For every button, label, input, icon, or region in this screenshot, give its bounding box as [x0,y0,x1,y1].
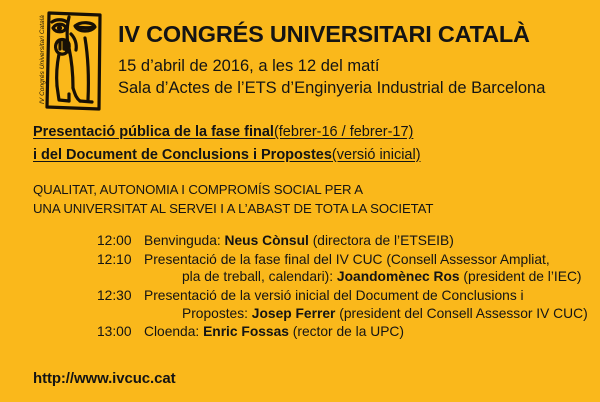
slogan-block: QUALITAT, AUTONOMIA I COMPROMÍS SOCIAL P… [33,181,573,218]
schedule-speaker-name: Neus Cònsul [225,233,309,248]
schedule-text: Presentació de la fase final del IV CUC … [144,252,550,267]
presentation-line-2-note: (versió inicial) [332,147,421,163]
schedule-row: Propostes: Josep Ferrer (president del C… [144,305,597,323]
schedule-row: Presentació de la fase final del IV CUC … [144,251,597,269]
schedule-body: Cloenda: Enric Fossas (rector de la UPC) [144,323,597,341]
schedule-text: Cloenda: [144,324,203,339]
schedule-speaker-role: (rector de la UPC) [289,324,404,339]
schedule-item: 12:30 Presentació de la versió inicial d… [97,287,597,322]
event-poster: IV Congrés Universitari Català IV CONGRÉ… [0,0,600,402]
schedule-row: pla de treball, calendari): Joandomènec … [144,268,597,286]
schedule-speaker-name: Josep Ferrer [252,306,336,321]
website-url[interactable]: http://www.ivcuc.cat [33,370,175,387]
slogan-line-1: QUALITAT, AUTONOMIA I COMPROMÍS SOCIAL P… [33,181,573,200]
schedule-time: 12:00 [97,232,144,250]
page-title: IV CONGRÉS UNIVERSITARI CATALÀ [118,22,588,48]
poster-header: IV Congrés Universitari Català IV CONGRÉ… [0,0,600,120]
schedule-row: Benvinguda: Neus Cònsul (directora de l’… [144,232,597,250]
schedule-speaker-role: (president del Consell Assessor IV CUC) [335,306,587,321]
schedule-speaker-role: (directora de l’ETSEIB) [309,233,454,248]
schedule-body: Benvinguda: Neus Cònsul (directora de l’… [144,232,597,250]
schedule-row: Presentació de la versió inicial del Doc… [144,287,597,305]
schedule-item: 12:10 Presentació de la fase final del I… [97,251,597,286]
schedule-body: Presentació de la fase final del IV CUC … [144,251,597,286]
presentation-block: Presentació pública de la fase final(feb… [33,122,573,165]
presentation-line-1: Presentació pública de la fase final(feb… [33,122,573,143]
schedule-time: 12:30 [97,287,144,305]
presentation-line-1-bold: Presentació pública de la fase final [33,124,274,140]
presentation-line-1-note: (febrer-16 / febrer-17) [274,124,413,140]
svg-text:IV Congrés Universitari Català: IV Congrés Universitari Català [39,15,46,104]
schedule-item: 12:00 Benvinguda: Neus Cònsul (directora… [97,232,597,250]
schedule-speaker-role: (president de l’IEC) [460,269,582,284]
congress-logo-icon: IV Congrés Universitari Català [33,8,105,114]
presentation-line-2-bold: i del Document de Conclusions i Proposte… [33,147,332,163]
schedule-time: 12:10 [97,251,144,269]
header-text-block: IV CONGRÉS UNIVERSITARI CATALÀ 15 d’abri… [118,22,588,100]
schedule-row: Cloenda: Enric Fossas (rector de la UPC) [144,323,597,341]
presentation-line-2: i del Document de Conclusions i Proposte… [33,145,573,166]
schedule-body: Presentació de la versió inicial del Doc… [144,287,597,322]
schedule-text: Propostes: [182,306,252,321]
schedule-time: 13:00 [97,323,144,341]
schedule-speaker-name: Enric Fossas [203,324,289,339]
schedule-text: pla de treball, calendari): [182,269,337,284]
schedule-speaker-name: Joandomènec Ros [337,269,460,284]
schedule-list: 12:00 Benvinguda: Neus Cònsul (directora… [97,232,597,342]
slogan-line-2: UNA UNIVERSITAT AL SERVEI I A L’ABAST DE… [33,200,573,219]
event-venue: Sala d’Actes de l’ETS d’Enginyeria Indus… [118,78,588,100]
event-datetime: 15 d’abril de 2016, a les 12 del matí [118,56,588,78]
schedule-item: 13:00 Cloenda: Enric Fossas (rector de l… [97,323,597,341]
schedule-text: Benvinguda: [144,233,225,248]
schedule-text: Presentació de la versió inicial del Doc… [144,288,524,303]
